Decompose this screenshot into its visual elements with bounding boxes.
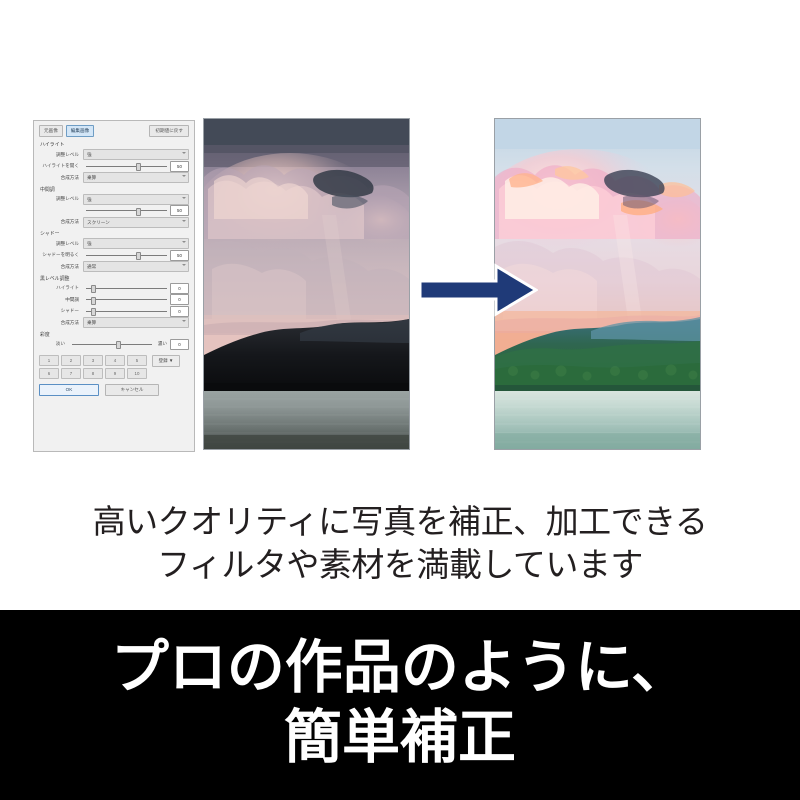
promo-caption: 高いクオリティに写真を補正、加工できる フィルタや素材を満載しています bbox=[0, 500, 800, 586]
row-midtone-level: 調整レベル 強 bbox=[39, 194, 189, 204]
select-highlight-blend[interactable]: 乗算 bbox=[83, 172, 189, 183]
chevron-down-icon bbox=[182, 197, 186, 199]
row-midtone-slider: 50 bbox=[39, 206, 189, 216]
group-title-saturation: 彩度 bbox=[40, 331, 189, 338]
row-shadow-blend: 合成方法 通常 bbox=[39, 262, 189, 272]
slider-thumb[interactable] bbox=[136, 163, 141, 171]
select-midtone-blend-value: スクリーン bbox=[87, 220, 110, 225]
before-photo bbox=[203, 118, 410, 450]
chevron-down-icon bbox=[182, 175, 186, 177]
value-black-highlight[interactable]: 0 bbox=[170, 283, 189, 294]
slider-track bbox=[86, 255, 167, 256]
select-black-blend[interactable]: 乗算 bbox=[83, 317, 189, 328]
label-saturation-low: 淡い bbox=[39, 341, 69, 347]
label-highlight-blend: 合成方法 bbox=[39, 175, 83, 181]
group-title-black-level: 黒レベル調整 bbox=[40, 275, 189, 282]
slider-midtone[interactable] bbox=[86, 206, 167, 215]
select-highlight-blend-value: 乗算 bbox=[87, 175, 96, 180]
row-shadow-brighten: シャドーを明るく 50 bbox=[39, 250, 189, 260]
group-title-shadow: シャドー bbox=[40, 230, 189, 237]
select-shadow-blend[interactable]: 通常 bbox=[83, 261, 189, 272]
slider-thumb[interactable] bbox=[91, 308, 96, 316]
label-black-midtone: 中間調 bbox=[39, 297, 83, 303]
select-midtone-blend[interactable]: スクリーン bbox=[83, 217, 189, 228]
preset-button-2[interactable]: 2 bbox=[61, 355, 81, 366]
tab-original-image[interactable]: 元画像 bbox=[39, 125, 63, 137]
row-shadow-level: 調整レベル 強 bbox=[39, 239, 189, 249]
tab-edited-image[interactable]: 編集画像 bbox=[66, 125, 94, 137]
reset-to-default-button[interactable]: 初期値に戻す bbox=[149, 125, 189, 137]
before-after-arrow bbox=[418, 262, 538, 318]
preset-button-6[interactable]: 6 bbox=[39, 368, 59, 379]
slider-thumb[interactable] bbox=[91, 297, 96, 305]
row-black-shadow: シャドー 0 bbox=[39, 306, 189, 316]
slider-track bbox=[86, 288, 167, 289]
slider-saturation[interactable] bbox=[72, 340, 152, 349]
chevron-down-icon bbox=[182, 241, 186, 243]
slider-track bbox=[72, 344, 152, 345]
value-shadow-brighten[interactable]: 50 bbox=[170, 250, 189, 261]
row-black-blend: 合成方法 乗算 bbox=[39, 318, 189, 328]
ok-button[interactable]: OK bbox=[39, 384, 99, 396]
select-highlight-level[interactable]: 強 bbox=[83, 149, 189, 160]
label-shadow-blend: 合成方法 bbox=[39, 264, 83, 270]
chevron-down-icon bbox=[182, 320, 186, 322]
preset-button-5[interactable]: 5 bbox=[127, 355, 147, 366]
label-black-highlight: ハイライト bbox=[39, 285, 83, 291]
value-saturation[interactable]: 0 bbox=[170, 339, 189, 350]
label-saturation-high: 濃い bbox=[155, 341, 170, 347]
dialog-tab-row: 元画像 編集画像 初期値に戻す bbox=[39, 125, 189, 137]
slider-black-shadow[interactable] bbox=[86, 307, 167, 316]
row-saturation: 淡い 濃い 0 bbox=[39, 339, 189, 349]
slider-thumb[interactable] bbox=[136, 208, 141, 216]
preset-button-3[interactable]: 3 bbox=[83, 355, 103, 366]
value-black-shadow[interactable]: 0 bbox=[170, 306, 189, 317]
preset-button-9[interactable]: 9 bbox=[105, 368, 125, 379]
label-midtone-level: 調整レベル bbox=[39, 196, 83, 202]
chevron-down-icon bbox=[182, 264, 186, 266]
value-highlight-open[interactable]: 50 bbox=[170, 161, 189, 172]
row-highlight-blend: 合成方法 乗算 bbox=[39, 173, 189, 183]
dialog-action-row: OK キャンセル bbox=[39, 384, 189, 396]
before-photo-art bbox=[204, 119, 409, 449]
label-black-blend: 合成方法 bbox=[39, 320, 83, 326]
slider-thumb[interactable] bbox=[136, 252, 141, 260]
row-black-midtone: 中間調 0 bbox=[39, 295, 189, 305]
register-dropdown-button[interactable]: 登録 ▼ bbox=[152, 355, 180, 367]
group-title-midtone: 中間調 bbox=[40, 186, 189, 193]
slider-black-midtone[interactable] bbox=[86, 295, 167, 304]
promo-top-area: 元画像 編集画像 初期値に戻す ハイライト 調整レベル 強 ハイライトを開く bbox=[0, 0, 800, 610]
select-midtone-level-value: 強 bbox=[87, 197, 92, 202]
slider-track bbox=[86, 299, 167, 300]
banner-line-1: プロの作品のように、 bbox=[0, 632, 800, 702]
group-title-highlight: ハイライト bbox=[40, 141, 189, 148]
row-black-highlight: ハイライト 0 bbox=[39, 283, 189, 293]
chevron-down-icon bbox=[182, 152, 186, 154]
arrow-right-icon bbox=[418, 262, 538, 318]
select-highlight-level-value: 強 bbox=[87, 152, 92, 157]
select-shadow-level-value: 強 bbox=[87, 241, 92, 246]
slider-thumb[interactable] bbox=[116, 341, 121, 349]
label-midtone-blend: 合成方法 bbox=[39, 219, 83, 225]
slider-black-highlight[interactable] bbox=[86, 284, 167, 293]
row-highlight-open: ハイライトを開く 50 bbox=[39, 161, 189, 171]
promo-screenshot: 元画像 編集画像 初期値に戻す ハイライト 調整レベル 強 ハイライトを開く bbox=[0, 0, 800, 800]
label-highlight-level: 調整レベル bbox=[39, 152, 83, 158]
slider-track bbox=[86, 311, 167, 312]
preset-button-7[interactable]: 7 bbox=[61, 368, 81, 379]
value-black-midtone[interactable]: 0 bbox=[170, 294, 189, 305]
slider-track bbox=[86, 210, 167, 211]
slider-track bbox=[86, 166, 167, 167]
preset-area: 1 2 3 4 5 6 7 8 9 10 登録 ▼ bbox=[39, 351, 189, 379]
select-black-blend-value: 乗算 bbox=[87, 320, 96, 325]
slider-highlight-open[interactable] bbox=[86, 162, 167, 171]
row-midtone-blend: 合成方法 スクリーン bbox=[39, 217, 189, 227]
row-highlight-level: 調整レベル 強 bbox=[39, 150, 189, 160]
label-black-shadow: シャドー bbox=[39, 308, 83, 314]
preset-button-4[interactable]: 4 bbox=[105, 355, 125, 366]
select-midtone-level[interactable]: 強 bbox=[83, 194, 189, 205]
value-midtone[interactable]: 50 bbox=[170, 205, 189, 216]
preset-button-1[interactable]: 1 bbox=[39, 355, 59, 366]
preset-button-10[interactable]: 10 bbox=[127, 368, 147, 379]
select-shadow-blend-value: 通常 bbox=[87, 264, 96, 269]
preset-buttons: 1 2 3 4 5 6 7 8 9 10 bbox=[39, 355, 147, 379]
preset-button-8[interactable]: 8 bbox=[83, 368, 103, 379]
label-shadow-brighten: シャドーを明るく bbox=[39, 252, 83, 258]
slider-shadow-brighten[interactable] bbox=[86, 251, 167, 260]
chevron-down-icon bbox=[182, 220, 186, 222]
caption-line-1: 高いクオリティに写真を補正、加工できる bbox=[0, 500, 800, 543]
select-shadow-level[interactable]: 強 bbox=[83, 238, 189, 249]
bottom-banner: プロの作品のように、 簡単補正 bbox=[0, 610, 800, 800]
banner-line-2: 簡単補正 bbox=[0, 702, 800, 772]
label-shadow-level: 調整レベル bbox=[39, 241, 83, 247]
image-correction-dialog: 元画像 編集画像 初期値に戻す ハイライト 調整レベル 強 ハイライトを開く bbox=[33, 120, 195, 452]
label-highlight-open: ハイライトを開く bbox=[39, 163, 83, 169]
caption-line-2: フィルタや素材を満載しています bbox=[0, 543, 800, 586]
slider-thumb[interactable] bbox=[91, 285, 96, 293]
banner-text: プロの作品のように、 簡単補正 bbox=[0, 632, 800, 772]
cancel-button[interactable]: キャンセル bbox=[105, 384, 159, 396]
